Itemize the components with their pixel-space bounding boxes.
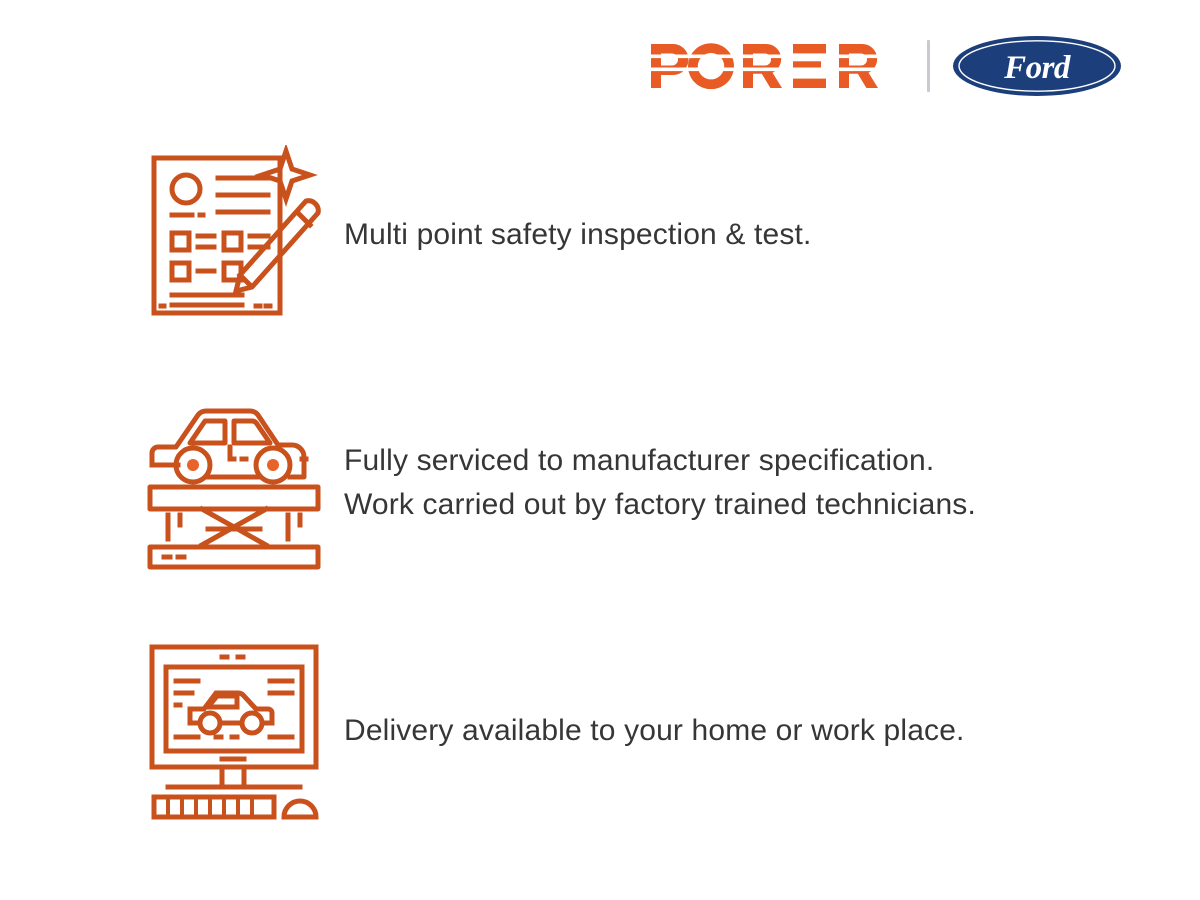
feature-list: Multi point safety inspection & test. (0, 140, 1200, 826)
feature-text: Delivery available to your home or work … (344, 709, 965, 753)
checklist-pencil-icon (146, 145, 322, 325)
feature-text: Multi point safety inspection & test. (344, 213, 811, 257)
porter-wordmark (651, 43, 903, 89)
monitor-car-delivery-icon (146, 641, 322, 821)
brand-header: Ford (0, 30, 1200, 102)
car-on-lift-icon (146, 393, 322, 573)
feature-row: Fully serviced to manufacturer specifica… (0, 388, 1200, 578)
brand-divider (927, 40, 930, 92)
feature-row: Delivery available to your home or work … (0, 636, 1200, 826)
svg-text:Ford: Ford (1003, 50, 1071, 86)
ford-logo: Ford (952, 35, 1122, 97)
feature-text: Fully serviced to manufacturer specifica… (344, 439, 976, 527)
feature-row: Multi point safety inspection & test. (0, 140, 1200, 330)
